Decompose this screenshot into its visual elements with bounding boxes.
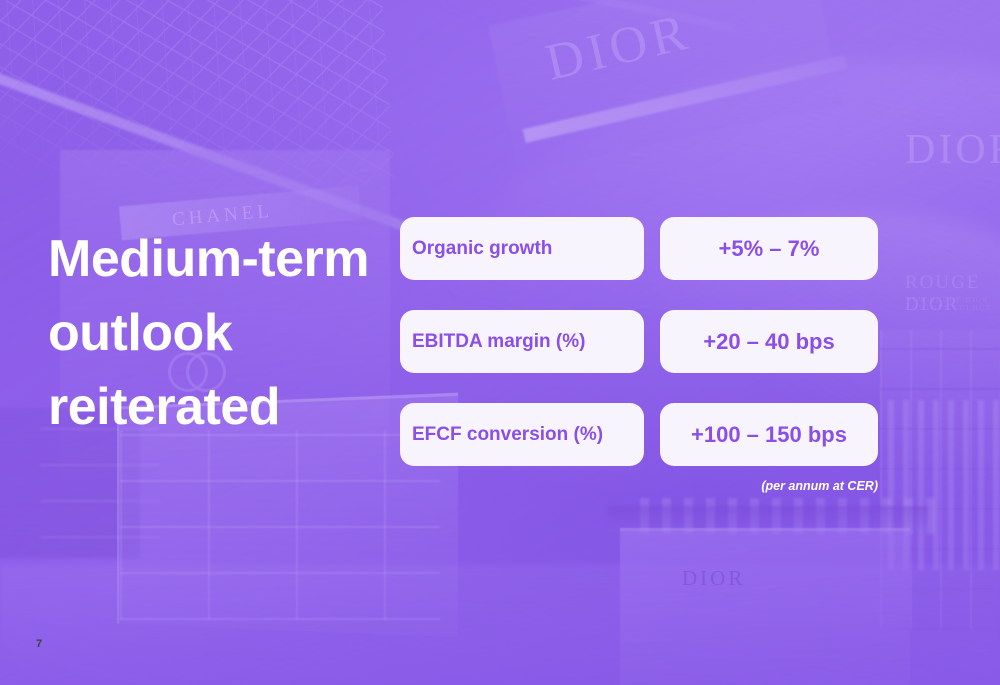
metric-value-organic-growth: +5% – 7% — [660, 217, 878, 280]
page-number: 7 — [36, 638, 42, 650]
metric-label-efcf-conversion: EFCF conversion (%) — [400, 403, 644, 466]
table-row: EBITDA margin (%) +20 – 40 bps — [400, 310, 878, 373]
footnote: (per annum at CER) — [598, 479, 878, 493]
table-row: EFCF conversion (%) +100 – 150 bps — [400, 403, 878, 466]
metric-value-efcf-conversion: +100 – 150 bps — [660, 403, 878, 466]
table-row: Organic growth +5% – 7% — [400, 217, 878, 280]
metric-label-organic-growth: Organic growth — [400, 217, 644, 280]
page-title: Medium-term outlook reiterated — [48, 222, 388, 444]
metric-label-ebitda-margin: EBITDA margin (%) — [400, 310, 644, 373]
slide: CHANEL DIOR DIOR ROUGE DIOR NEW ROUGE DI… — [0, 0, 1000, 685]
metric-value-ebitda-margin: +20 – 40 bps — [660, 310, 878, 373]
outlook-table: Organic growth +5% – 7% EBITDA margin (%… — [400, 217, 878, 466]
